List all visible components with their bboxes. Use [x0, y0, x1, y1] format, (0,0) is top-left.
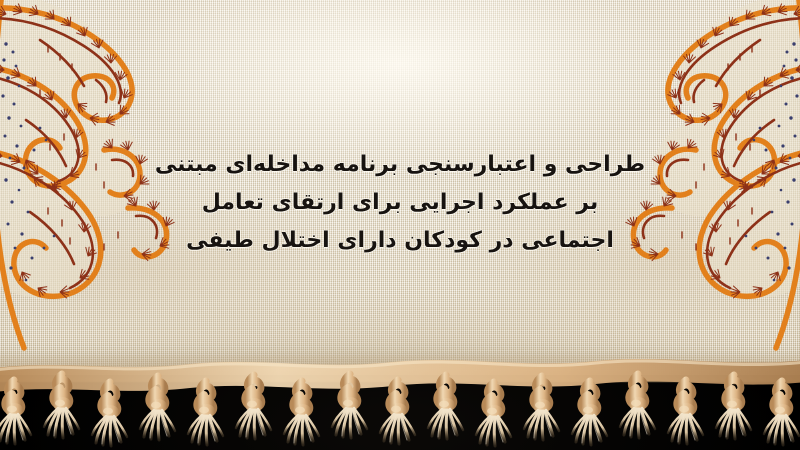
title-line-1: طراحی و اعتبارسنجی برنامه مداخله‌ای مبتن… — [150, 146, 650, 184]
title-line-3: اجتماعی در کودکان دارای اختلال طیفی — [150, 222, 650, 260]
knotted-tassel-fringe — [0, 348, 800, 450]
title-line-2: بر عملکرد اجرایی برای ارتقای تعامل — [150, 184, 650, 222]
title-card-canvas: طراحی و اعتبارسنجی برنامه مداخله‌ای مبتن… — [0, 0, 800, 450]
page-title: طراحی و اعتبارسنجی برنامه مداخله‌ای مبتن… — [150, 146, 650, 260]
